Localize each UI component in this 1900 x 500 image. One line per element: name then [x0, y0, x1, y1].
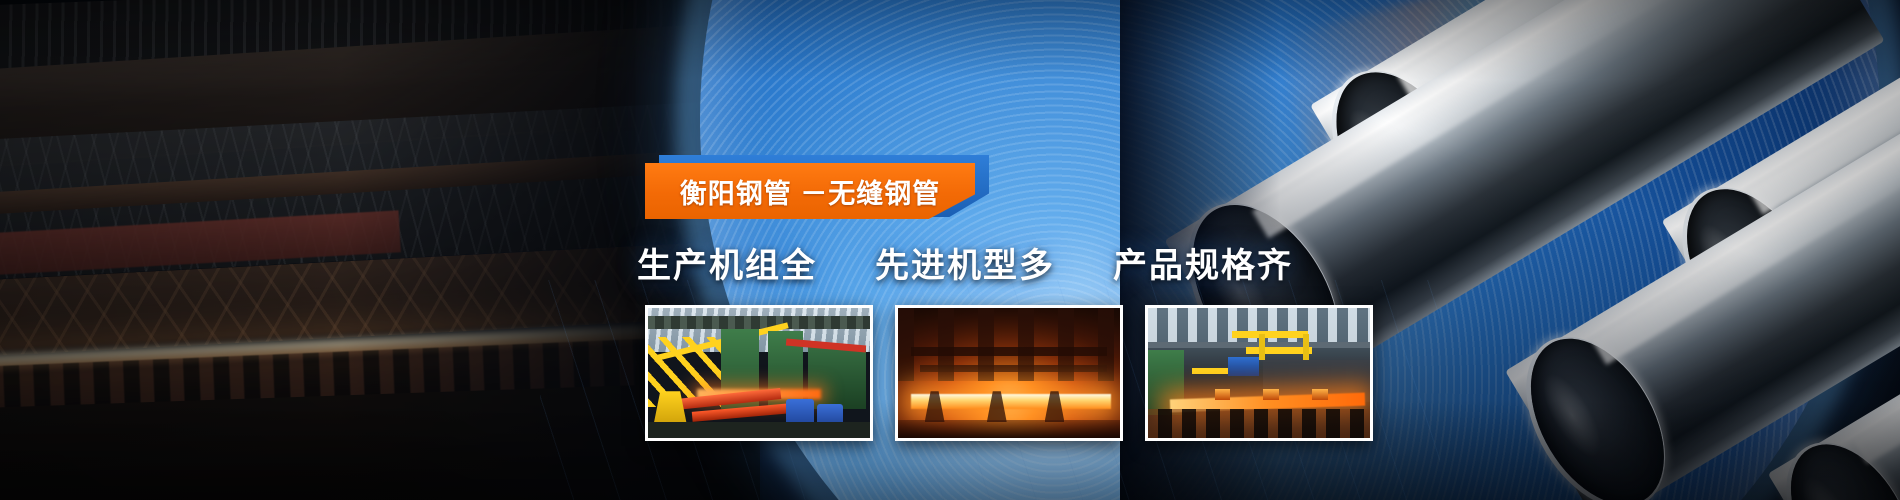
hero-banner: 衡阳钢管 －无缝钢管 生产机组全 先进机型多 产品规格齐 — [0, 0, 1900, 500]
thumb3-blue-equipment — [1228, 357, 1259, 375]
brand-label: 衡阳钢管 －无缝钢管 — [645, 155, 995, 225]
thumb3-yellow-walk-1 — [1232, 331, 1307, 338]
thumb3-roller-3 — [1312, 389, 1328, 401]
headline-segment-2: 先进机型多 — [875, 238, 1055, 287]
thumb2-floor — [898, 420, 1120, 438]
thumbnail-strip — [645, 305, 1373, 441]
headline-segment-1: 生产机组全 — [637, 238, 817, 287]
thumb3-floor — [1148, 409, 1370, 438]
thumb1-machine-c — [808, 347, 866, 409]
thumb2-scene — [898, 308, 1120, 438]
headline: 生产机组全 先进机型多 产品规格齐 — [637, 238, 1293, 287]
brand-label-text: 衡阳钢管 －无缝钢管 — [645, 163, 975, 219]
thumb1-floor — [648, 422, 870, 438]
thumbnail-hot-billet[interactable] — [895, 305, 1123, 441]
thumbnail-hot-rolling-floor[interactable] — [1145, 305, 1373, 441]
thumb2-crossbeam-2 — [920, 365, 1106, 372]
thumb3-yellow-post-2 — [1303, 334, 1309, 360]
banner-content: 衡阳钢管 －无缝钢管 生产机组全 先进机型多 产品规格齐 — [0, 0, 1900, 500]
thumbnail-rolling-mill-line[interactable] — [645, 305, 873, 441]
thumb3-yellow-post-1 — [1259, 334, 1265, 360]
thumb2-crossbeam-1 — [911, 347, 1106, 356]
headline-segment-3: 产品规格齐 — [1113, 238, 1293, 287]
thumb3-roller-2 — [1263, 389, 1279, 401]
thumb1-ceiling — [648, 316, 870, 329]
thumb3-yellow-walk-2 — [1246, 347, 1313, 354]
thumb1-scene — [648, 308, 870, 438]
thumb3-scene — [1148, 308, 1370, 438]
thumb3-roller-1 — [1215, 389, 1231, 401]
